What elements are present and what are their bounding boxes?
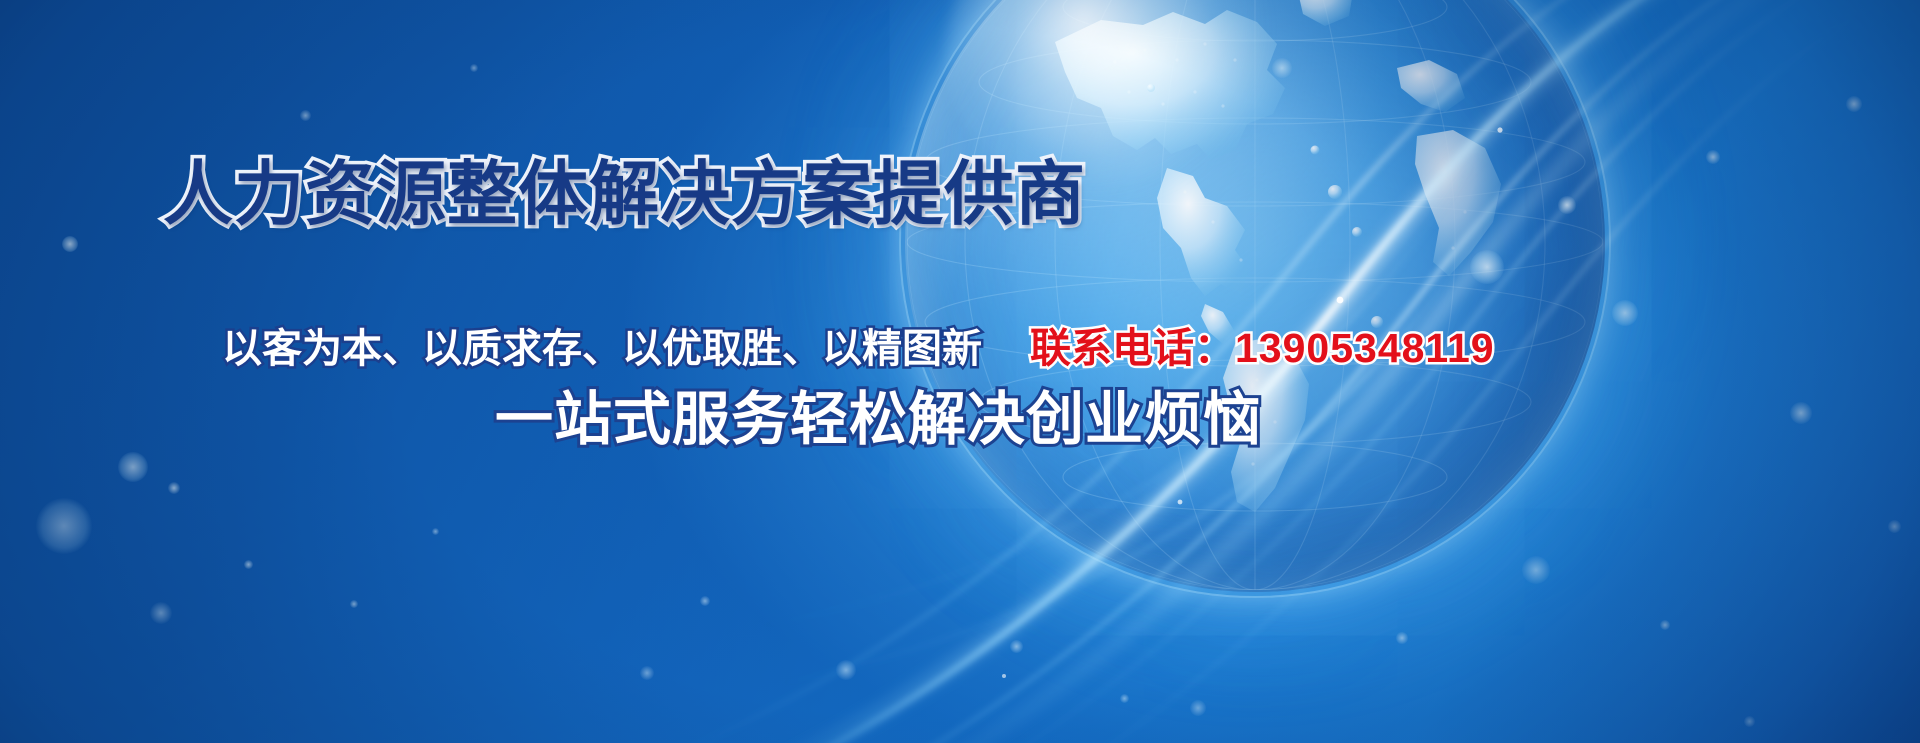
banner-headline: 人力资源整体解决方案提供商	[163, 138, 1086, 239]
banner-slogan: 以客为本、以质求存、以优取胜、以精图新	[222, 316, 982, 374]
contact-phone-number: 13905348119	[1235, 325, 1495, 371]
banner-text-layer: 人力资源整体解决方案提供商 以客为本、以质求存、以优取胜、以精图新 联系电话：1…	[0, 0, 1920, 743]
contact-phone-label: 联系电话：	[1030, 325, 1235, 371]
contact-phone: 联系电话：13905348119	[1030, 314, 1495, 374]
hero-banner: 人力资源整体解决方案提供商 以客为本、以质求存、以优取胜、以精图新 联系电话：1…	[0, 0, 1920, 743]
banner-tagline: 一站式服务轻松解决创业烦恼	[495, 372, 1262, 456]
